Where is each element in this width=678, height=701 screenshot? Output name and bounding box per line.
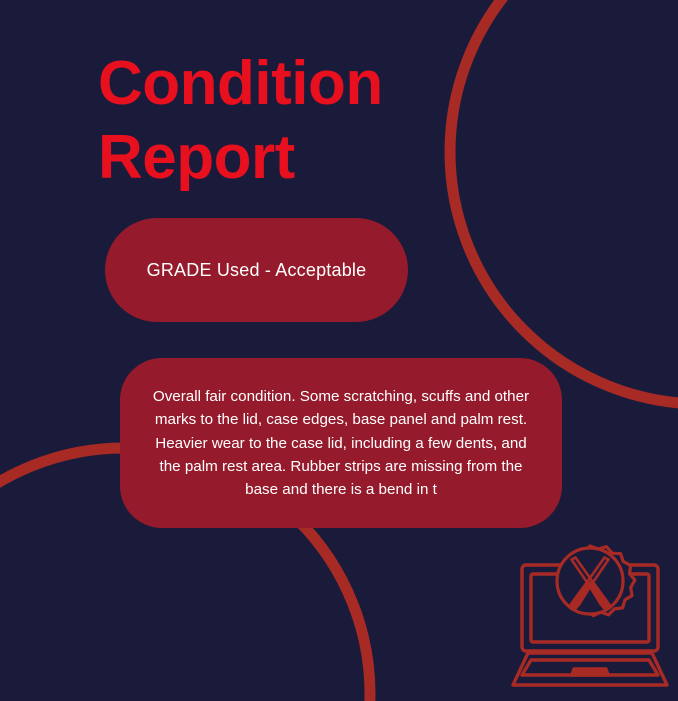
condition-description-text: Overall fair condition. Some scratching,… — [120, 358, 562, 501]
grade-badge: GRADE Used - Acceptable — [105, 218, 408, 322]
gear-inner-circle — [557, 548, 623, 614]
laptop-repair-icon — [500, 533, 678, 693]
page-title: Condition Report — [98, 47, 438, 195]
laptop-trackpad — [572, 669, 608, 675]
arc-top-right-icon — [450, 0, 678, 404]
grade-badge-label: GRADE Used - Acceptable — [147, 260, 367, 281]
condition-description-card: Overall fair condition. Some scratching,… — [120, 358, 562, 528]
condition-report-page: Condition Report GRADE Used - Acceptable… — [0, 0, 678, 701]
